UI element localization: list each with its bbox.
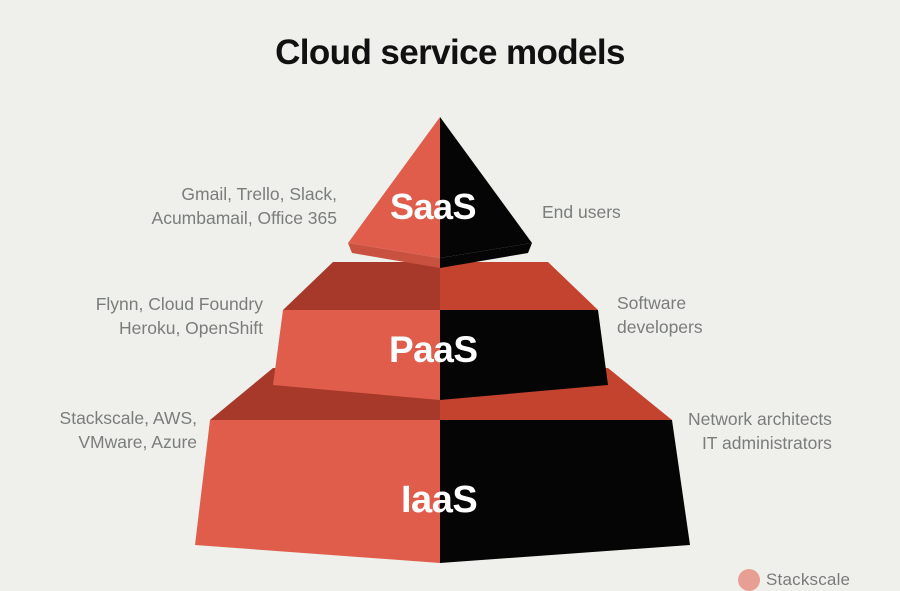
saas-examples-label: Gmail, Trello, Slack, Acumbamail, Office… xyxy=(152,182,337,230)
tier-label-saas: SaaS xyxy=(390,186,476,228)
diagram-canvas: Cloud service models SaaS PaaS IaaS Gmai… xyxy=(0,0,900,582)
tier-label-paas: PaaS xyxy=(389,329,478,371)
brand-name: Stackscale xyxy=(766,570,850,590)
paas-top-face-left xyxy=(283,262,440,310)
paas-examples-label: Flynn, Cloud Foundry Heroku, OpenShift xyxy=(96,292,263,340)
paas-top-face-right xyxy=(440,262,598,310)
iaas-examples-label: Stackscale, AWS, VMware, Azure xyxy=(60,406,197,454)
iaas-front-right-face xyxy=(440,420,690,563)
tier-label-iaas: IaaS xyxy=(401,479,477,522)
saas-audience-label: End users xyxy=(542,200,621,224)
iaas-audience-label: Network architects IT administrators xyxy=(688,407,832,455)
brand-logo-icon xyxy=(738,569,760,591)
brand-watermark: Stackscale xyxy=(738,569,850,591)
paas-audience-label: Software developers xyxy=(617,291,703,339)
